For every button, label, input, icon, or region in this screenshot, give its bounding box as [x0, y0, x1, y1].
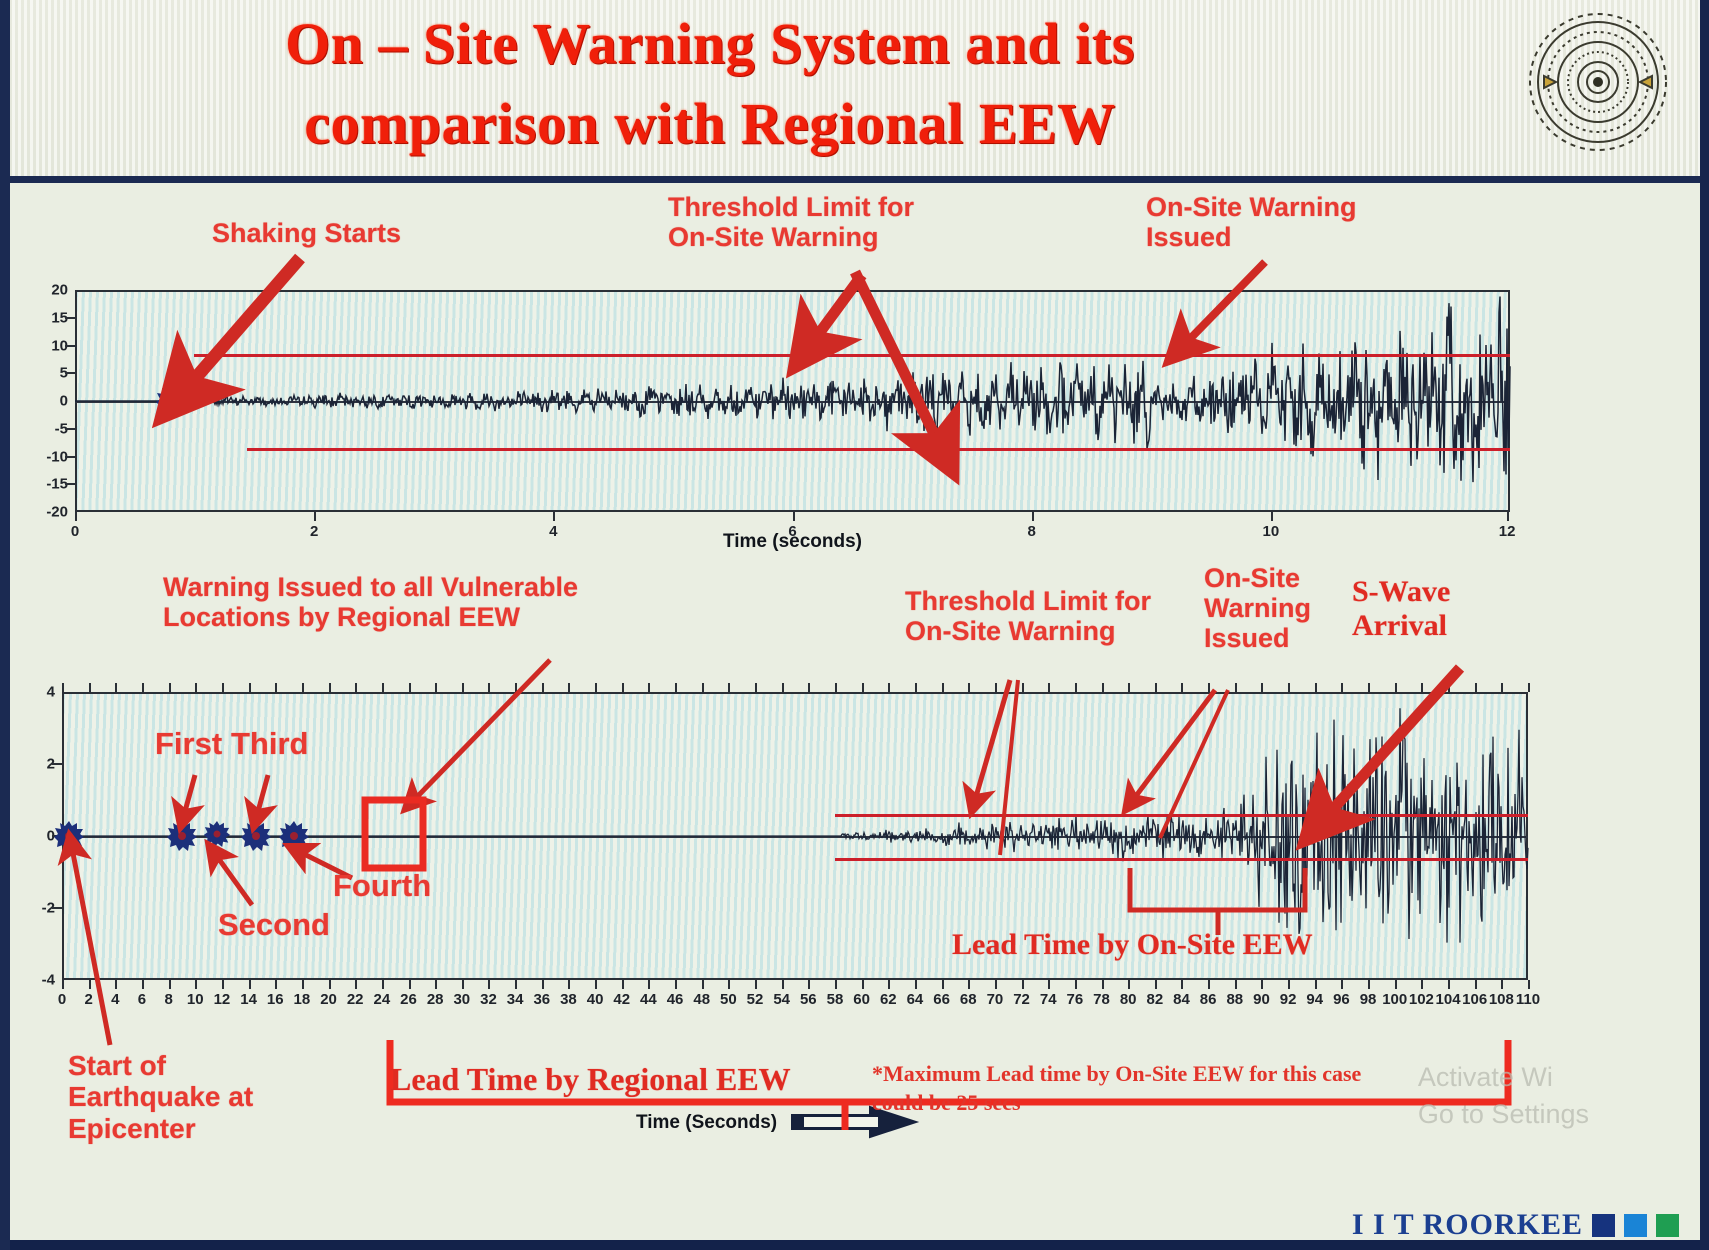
bottom-xtick-label: 48: [693, 991, 710, 1008]
anno-bottom-warning-issued: On-Site Warning Issued: [1204, 563, 1311, 654]
slide-left-edge: [0, 0, 10, 1250]
bottom-xtick-mark: [169, 980, 171, 989]
bottom-xtick-label: 64: [907, 991, 924, 1008]
bottom-xtick-label: 22: [347, 991, 364, 1008]
bottom-xtick-label: 32: [480, 991, 497, 1008]
bottom-xtick-label: 70: [987, 991, 1004, 1008]
bottom-xtick-mark-top: [1501, 683, 1503, 692]
bottom-xtick-mark: [195, 980, 197, 989]
bottom-xtick-label: 38: [560, 991, 577, 1008]
bottom-xtick-label: 8: [164, 991, 172, 1008]
bottom-xtick-label: 56: [800, 991, 817, 1008]
bottom-xtick-label: 68: [960, 991, 977, 1008]
anno-regional-warning-issued: Warning Issued to all Vulnerable Locatio…: [163, 572, 578, 632]
bottom-xtick-label: 66: [933, 991, 950, 1008]
bottom-xtick-mark-top: [1261, 683, 1263, 692]
bottom-xtick-mark-top: [142, 683, 144, 692]
slide-root: On – Site Warning System and its compari…: [0, 0, 1709, 1250]
marker-third-station: [241, 821, 271, 851]
bottom-xtick-mark-top: [1022, 683, 1024, 692]
bottom-xtick-mark: [355, 980, 357, 989]
bottom-xtick-mark: [1022, 980, 1024, 989]
bottom-xtick-mark: [1475, 980, 1477, 989]
bottom-xtick-label: 24: [374, 991, 391, 1008]
anno-lead-time-regional: Lead Time by Regional EEW: [390, 1062, 791, 1098]
bottom-xtick-mark-top: [488, 683, 490, 692]
anno-first: First: [155, 727, 222, 762]
bottom-xtick-mark-top: [302, 683, 304, 692]
bottom-xtick-label: 90: [1253, 991, 1270, 1008]
brand-square-green: [1656, 1214, 1679, 1237]
bottom-xtick-mark-top: [568, 683, 570, 692]
bottom-xtick-mark: [1102, 980, 1104, 989]
bottom-xtick-label: 58: [827, 991, 844, 1008]
bottom-xtick-mark-top: [329, 683, 331, 692]
bottom-xtick-mark-top: [1448, 683, 1450, 692]
bottom-xtick-mark: [915, 980, 917, 989]
bottom-xtick-label: 94: [1306, 991, 1323, 1008]
bottom-xtick-mark: [222, 980, 224, 989]
bottom-xtick-label: 62: [880, 991, 897, 1008]
iit-roorkee-brand: I I T ROORKEE: [1352, 1208, 1679, 1242]
brand-square-blue: [1624, 1214, 1647, 1237]
slide-banner: On – Site Warning System and its compari…: [0, 0, 1709, 183]
bottom-xtick-mark: [728, 980, 730, 989]
bottom-xtick-label: 16: [267, 991, 284, 1008]
bottom-xtick-label: 86: [1200, 991, 1217, 1008]
bottom-xtick-mark: [702, 980, 704, 989]
bottom-xtick-mark: [622, 980, 624, 989]
top-chart-upper-threshold: [194, 354, 1510, 357]
top-chart-waveform: [75, 290, 1510, 512]
bottom-xtick-mark: [1501, 980, 1503, 989]
bottom-xtick-label: 44: [640, 991, 657, 1008]
bottom-xtick-mark-top: [1075, 683, 1077, 692]
page-title-line2: comparison with Regional EEW: [0, 84, 1420, 164]
bottom-chart-lower-threshold: [835, 858, 1528, 861]
bottom-xtick-mark: [1448, 980, 1450, 989]
bottom-xtick-mark-top: [942, 683, 944, 692]
bottom-xtick-mark: [568, 980, 570, 989]
iit-roorkee-brand-text: I I T ROORKEE: [1352, 1208, 1583, 1242]
bottom-xtick-mark-top: [675, 683, 677, 692]
bottom-xtick-mark-top: [1475, 683, 1477, 692]
bottom-xtick-label: 76: [1067, 991, 1084, 1008]
bottom-xtick-label: 92: [1280, 991, 1297, 1008]
bottom-xtick-label: 72: [1013, 991, 1030, 1008]
bottom-xtick-label: 34: [507, 991, 524, 1008]
windows-activation-watermark: Activate Wi Go to Settings: [1418, 1059, 1589, 1132]
bottom-xtick-label: 54: [773, 991, 790, 1008]
bottom-xtick-mark: [1288, 980, 1290, 989]
bottom-xtick-label: 10: [187, 991, 204, 1008]
bottom-xtick-mark-top: [1288, 683, 1290, 692]
bottom-xtick-mark: [1048, 980, 1050, 989]
bottom-xtick-mark: [1315, 980, 1317, 989]
bottom-xtick-label: 98: [1360, 991, 1377, 1008]
bottom-xtick-label: 110: [1516, 991, 1540, 1008]
bottom-xtick-mark: [648, 980, 650, 989]
anno-shaking-starts: Shaking Starts: [212, 218, 401, 248]
bottom-xtick-label: 28: [427, 991, 444, 1008]
anno-start-of-earthquake: Start of Earthquake at Epicenter: [68, 1050, 253, 1144]
bottom-xtick-mark-top: [515, 683, 517, 692]
shaking-start-marker: [156, 386, 186, 416]
bottom-xtick-mark: [1075, 980, 1077, 989]
bottom-xtick-label: 82: [1146, 991, 1163, 1008]
anno-top-warning-issued: On-Site Warning Issued: [1146, 192, 1357, 252]
bottom-xtick-mark: [782, 980, 784, 989]
bottom-xtick-label: 18: [294, 991, 311, 1008]
bottom-xtick-label: 0: [58, 991, 66, 1008]
bottom-xtick-mark-top: [808, 683, 810, 692]
bottom-xtick-mark-top: [595, 683, 597, 692]
bottom-xtick-label: 4: [111, 991, 119, 1008]
iit-roorkee-seal-icon: [1526, 8, 1671, 156]
bottom-xtick-mark: [1208, 980, 1210, 989]
bottom-xtick-mark: [1341, 980, 1343, 989]
bottom-xtick-mark: [1235, 980, 1237, 989]
bottom-xtick-label: 52: [747, 991, 764, 1008]
bottom-xtick-mark: [1155, 980, 1157, 989]
bottom-xtick-mark: [142, 980, 144, 989]
bottom-xtick-label: 40: [587, 991, 604, 1008]
bottom-xtick-mark-top: [89, 683, 91, 692]
bottom-xtick-mark: [995, 980, 997, 989]
bottom-xtick-label: 74: [1040, 991, 1057, 1008]
bottom-xtick-mark: [115, 980, 117, 989]
bottom-xtick-mark-top: [782, 683, 784, 692]
bottom-xtick-label: 12: [214, 991, 231, 1008]
bottom-xtick-mark-top: [1235, 683, 1237, 692]
top-chart-x-axis-title: Time (seconds): [723, 531, 862, 553]
bottom-xtick-mark: [382, 980, 384, 989]
anno-fourth: Fourth: [333, 869, 431, 904]
bottom-xtick-mark: [1528, 980, 1530, 989]
bottom-xtick-mark: [968, 980, 970, 989]
brand-square-navy: [1592, 1214, 1615, 1237]
bottom-xtick-mark: [302, 980, 304, 989]
bottom-xtick-mark-top: [755, 683, 757, 692]
bottom-xtick-mark: [1181, 980, 1183, 989]
bottom-xtick-mark-top: [222, 683, 224, 692]
slide-right-edge: [1700, 0, 1709, 1250]
bottom-xtick-mark-top: [1368, 683, 1370, 692]
footer-note: *Maximum Lead time by On-Site EEW for th…: [872, 1060, 1361, 1117]
bottom-xtick-mark: [462, 980, 464, 989]
bottom-xtick-mark: [1395, 980, 1397, 989]
bottom-xtick-label: 30: [453, 991, 470, 1008]
top-chart: 20 15 10 5 0 -5 -10 -15 -20 0 2: [75, 290, 1510, 512]
bottom-xtick-mark-top: [1315, 683, 1317, 692]
bottom-xtick-mark: [409, 980, 411, 989]
bottom-xtick-label: 102: [1409, 991, 1434, 1008]
bottom-xtick-mark-top: [862, 683, 864, 692]
bottom-xtick-label: 50: [720, 991, 737, 1008]
bottom-xtick-label: 104: [1436, 991, 1461, 1008]
bottom-xtick-mark-top: [1048, 683, 1050, 692]
marker-fourth-station: [279, 821, 309, 851]
bottom-xtick-mark-top: [1128, 683, 1130, 692]
bottom-xtick-mark: [329, 980, 331, 989]
bottom-xtick-mark: [62, 980, 64, 989]
bottom-xtick-mark-top: [702, 683, 704, 692]
bottom-xtick-mark: [888, 980, 890, 989]
bottom-xtick-mark: [89, 980, 91, 989]
bottom-xtick-mark-top: [995, 683, 997, 692]
bottom-xtick-mark: [1421, 980, 1423, 989]
top-chart-lower-threshold: [247, 448, 1510, 451]
page-title-line1: On – Site Warning System and its: [0, 4, 1420, 84]
bottom-xtick-mark: [249, 980, 251, 989]
bottom-xtick-mark-top: [62, 683, 64, 692]
bottom-xtick-mark-top: [1395, 683, 1397, 692]
bottom-xtick-mark-top: [915, 683, 917, 692]
bottom-xtick-mark: [542, 980, 544, 989]
bottom-xtick-label: 106: [1462, 991, 1487, 1008]
bottom-xtick-mark: [1128, 980, 1130, 989]
bottom-xtick-mark: [835, 980, 837, 989]
bottom-xtick-mark: [1261, 980, 1263, 989]
anno-lead-time-on-site: Lead Time by On-Site EEW: [952, 928, 1313, 962]
bottom-xtick-mark-top: [888, 683, 890, 692]
bottom-xtick-mark-top: [1341, 683, 1343, 692]
bottom-xtick-mark: [675, 980, 677, 989]
bottom-xtick-mark-top: [275, 683, 277, 692]
bottom-xtick-mark: [808, 980, 810, 989]
anno-second: Second: [218, 908, 330, 943]
bottom-xtick-label: 14: [240, 991, 257, 1008]
bottom-xtick-mark-top: [648, 683, 650, 692]
anno-s-wave-arrival: S-Wave Arrival: [1352, 575, 1450, 642]
anno-bottom-threshold-limit: Threshold Limit for On-Site Warning: [905, 586, 1151, 646]
bottom-xtick-mark-top: [249, 683, 251, 692]
anno-top-threshold-limit: Threshold Limit for On-Site Warning: [668, 192, 914, 252]
bottom-chart-upper-threshold: [835, 814, 1528, 817]
bottom-xtick-label: 60: [853, 991, 870, 1008]
bottom-xtick-mark-top: [409, 683, 411, 692]
bottom-xtick-mark: [1368, 980, 1370, 989]
bottom-xtick-mark-top: [462, 683, 464, 692]
bottom-xtick-mark-top: [1421, 683, 1423, 692]
bottom-xtick-mark-top: [382, 683, 384, 692]
bottom-xtick-label: 36: [533, 991, 550, 1008]
bottom-xtick-mark-top: [728, 683, 730, 692]
bottom-xtick-label: 108: [1489, 991, 1514, 1008]
bottom-xtick-label: 78: [1093, 991, 1110, 1008]
bottom-xtick-mark-top: [355, 683, 357, 692]
bottom-xtick-mark-top: [622, 683, 624, 692]
page-title: On – Site Warning System and its compari…: [0, 4, 1420, 164]
marker-start-of-earthquake: [54, 821, 84, 851]
bottom-xtick-mark-top: [1181, 683, 1183, 692]
bottom-xtick-label: 46: [667, 991, 684, 1008]
bottom-xtick-label: 26: [400, 991, 417, 1008]
bottom-xtick-label: 88: [1226, 991, 1243, 1008]
bottom-xtick-label: 42: [613, 991, 630, 1008]
bottom-xtick-mark-top: [542, 683, 544, 692]
bottom-xtick-mark-top: [1528, 683, 1530, 692]
bottom-xtick-label: 80: [1120, 991, 1137, 1008]
bottom-xtick-label: 6: [138, 991, 146, 1008]
bottom-xtick-label: 84: [1173, 991, 1190, 1008]
bottom-xtick-label: 96: [1333, 991, 1350, 1008]
bottom-xtick-mark-top: [1102, 683, 1104, 692]
bottom-xtick-mark-top: [115, 683, 117, 692]
bottom-xtick-mark: [595, 980, 597, 989]
bottom-xtick-mark: [862, 980, 864, 989]
bottom-xtick-mark: [275, 980, 277, 989]
bottom-xtick-label: 20: [320, 991, 337, 1008]
bottom-xtick-mark-top: [435, 683, 437, 692]
marker-second-station: [204, 821, 234, 851]
slide-bottom-bar: [0, 1240, 1709, 1250]
bottom-chart-x-axis-title: Time (Seconds): [636, 1112, 777, 1134]
bottom-xtick-mark-top: [195, 683, 197, 692]
bottom-xtick-mark-top: [1155, 683, 1157, 692]
bottom-xtick-mark-top: [169, 683, 171, 692]
bottom-xtick-mark: [515, 980, 517, 989]
bottom-xtick-mark: [435, 980, 437, 989]
bottom-xtick-mark-top: [968, 683, 970, 692]
bottom-xtick-mark: [755, 980, 757, 989]
bottom-xtick-mark-top: [835, 683, 837, 692]
anno-third: Third: [231, 727, 309, 762]
bottom-xtick-mark: [942, 980, 944, 989]
bottom-xtick-label: 2: [84, 991, 92, 1008]
bottom-xtick-label: 100: [1382, 991, 1407, 1008]
bottom-xtick-mark-top: [1208, 683, 1210, 692]
marker-first-station: [167, 821, 197, 851]
bottom-xtick-mark: [488, 980, 490, 989]
